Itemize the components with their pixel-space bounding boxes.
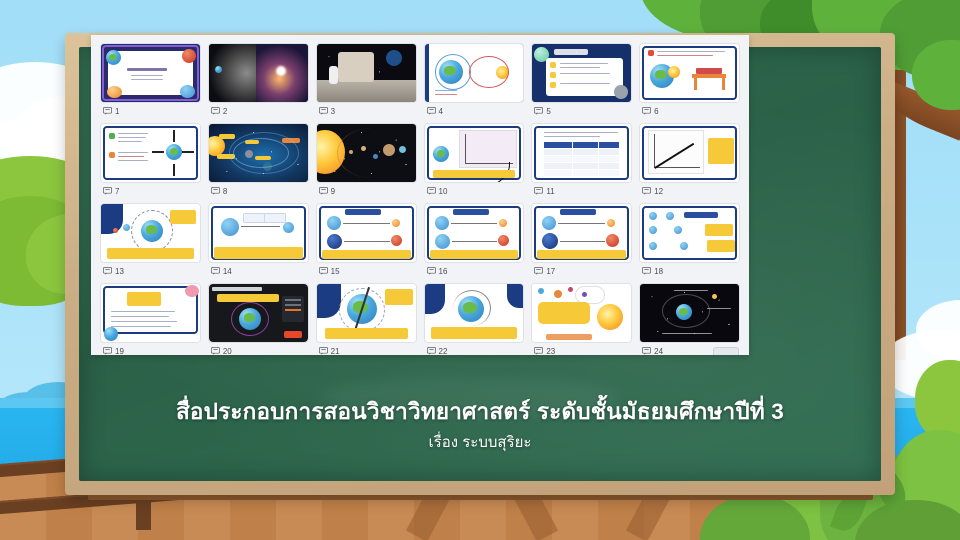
slide-thumbnail-panel[interactable]: 123456789101112131415161718192021222324 — [91, 35, 749, 355]
slide-number-row: 18 — [640, 262, 739, 280]
slide-thumbnail[interactable] — [532, 124, 631, 182]
slide-cell[interactable]: 6 — [636, 44, 743, 124]
slide-number-row: 20 — [209, 342, 308, 355]
slide-number-label: 5 — [546, 107, 550, 116]
slide-cell[interactable]: 11 — [528, 124, 635, 204]
slide-cell[interactable]: 14 — [205, 204, 312, 284]
slide-number-row: 5 — [532, 102, 631, 120]
slide-thumbnail[interactable] — [425, 204, 524, 262]
comment-note-icon — [103, 187, 112, 195]
slide-cell[interactable]: 20 — [205, 284, 312, 355]
slide-grid: 123456789101112131415161718192021222324 — [91, 35, 749, 355]
slide-cell[interactable]: 13 — [97, 204, 204, 284]
comment-note-icon — [427, 187, 436, 195]
slide-number-row: 8 — [209, 182, 308, 200]
slide-number-row: 13 — [101, 262, 200, 280]
comment-note-icon — [427, 107, 436, 115]
slide-number-row: 22 — [425, 342, 524, 355]
slide-cell[interactable]: 12 — [636, 124, 743, 204]
slide-thumbnail[interactable] — [209, 204, 308, 262]
slide-cell[interactable]: 24 — [636, 284, 743, 355]
slide-number-label: 21 — [331, 347, 340, 356]
comment-note-icon — [534, 267, 543, 275]
slide-number-row: 10 — [425, 182, 524, 200]
comment-note-icon — [211, 347, 220, 355]
slide-thumbnail[interactable] — [101, 204, 200, 262]
slide-cell[interactable]: 17 — [528, 204, 635, 284]
slide-number-label: 4 — [439, 107, 443, 116]
slide-cell[interactable]: 16 — [421, 204, 528, 284]
slide-number-label: 3 — [331, 107, 335, 116]
slide-cell[interactable]: 22 — [421, 284, 528, 355]
slide-number-row: 11 — [532, 182, 631, 200]
slide-number-label: 14 — [223, 267, 232, 276]
comment-note-icon — [534, 107, 543, 115]
slide-number-label: 19 — [115, 347, 124, 356]
comment-note-icon — [642, 347, 651, 355]
comment-note-icon — [103, 347, 112, 355]
slide-number-row: 6 — [640, 102, 739, 120]
slide-cell[interactable]: 9 — [313, 124, 420, 204]
slide-thumbnail[interactable] — [209, 44, 308, 102]
page-subtitle: เรื่อง ระบบสุริยะ — [65, 430, 895, 454]
slide-thumbnail[interactable] — [425, 124, 524, 182]
board-title-block: สื่อประกอบการสอนวิชาวิทยาศาสตร์ ระดับชั้… — [65, 398, 895, 454]
slide-number-label: 15 — [331, 267, 340, 276]
slide-cell[interactable]: 5 — [528, 44, 635, 124]
slide-number-label: 17 — [546, 267, 555, 276]
slide-thumbnail[interactable] — [640, 204, 739, 262]
slide-number-label: 23 — [546, 347, 555, 356]
screenshot-stage: 123456789101112131415161718192021222324 … — [0, 0, 960, 540]
slide-number-row: 3 — [317, 102, 416, 120]
slide-number-label: 13 — [115, 267, 124, 276]
slide-thumbnail[interactable] — [640, 284, 739, 342]
slide-number-label: 8 — [223, 187, 227, 196]
slide-number-label: 24 — [654, 347, 663, 356]
slide-cell[interactable]: 8 — [205, 124, 312, 204]
slide-number-row: 17 — [532, 262, 631, 280]
slide-number-label: 18 — [654, 267, 663, 276]
slide-number-row: 21 — [317, 342, 416, 355]
slide-number-label: 1 — [115, 107, 119, 116]
comment-note-icon — [427, 267, 436, 275]
slide-thumbnail[interactable] — [317, 284, 416, 342]
slide-number-row: 14 — [209, 262, 308, 280]
comment-note-icon — [534, 187, 543, 195]
comment-note-icon — [534, 347, 543, 355]
slide-cell[interactable]: 2 — [205, 44, 312, 124]
slide-number-row: 15 — [317, 262, 416, 280]
slide-cell[interactable]: 15 — [313, 204, 420, 284]
slide-number-row: 12 — [640, 182, 739, 200]
comment-note-icon — [642, 267, 651, 275]
slide-number-row: 2 — [209, 102, 308, 120]
slide-thumbnail[interactable] — [532, 44, 631, 102]
comment-note-icon — [319, 107, 328, 115]
slide-thumbnail[interactable] — [317, 204, 416, 262]
slide-number-label: 7 — [115, 187, 119, 196]
comment-note-icon — [103, 107, 112, 115]
comment-note-icon — [319, 267, 328, 275]
slide-thumbnail[interactable] — [640, 44, 739, 102]
slide-number-label: 11 — [546, 187, 554, 196]
comment-note-icon — [427, 347, 436, 355]
slide-number-label: 2 — [223, 107, 227, 116]
slide-thumbnail[interactable] — [640, 124, 739, 182]
slide-number-label: 9 — [331, 187, 335, 196]
comment-note-icon — [642, 107, 651, 115]
slide-number-row: 9 — [317, 182, 416, 200]
slide-number-row: 4 — [425, 102, 524, 120]
slide-number-row: 19 — [101, 342, 200, 355]
slide-number-row: 7 — [101, 182, 200, 200]
slide-number-row: 1 — [101, 102, 200, 120]
comment-note-icon — [319, 187, 328, 195]
comment-note-icon — [211, 267, 220, 275]
slide-number-label: 6 — [654, 107, 658, 116]
panel-scroll-control[interactable] — [713, 347, 739, 355]
slide-thumbnail[interactable] — [209, 124, 308, 182]
slide-thumbnail[interactable] — [425, 44, 524, 102]
slide-thumbnail[interactable] — [532, 284, 631, 342]
slide-number-label: 20 — [223, 347, 232, 356]
comment-note-icon — [211, 107, 220, 115]
slide-number-label: 22 — [439, 347, 448, 356]
slide-cell[interactable]: 21 — [313, 284, 420, 355]
slide-cell[interactable]: 3 — [313, 44, 420, 124]
slide-cell[interactable]: 18 — [636, 204, 743, 284]
comment-note-icon — [211, 187, 220, 195]
slide-number-label: 10 — [439, 187, 448, 196]
slide-cell[interactable]: 4 — [421, 44, 528, 124]
comment-note-icon — [319, 347, 328, 355]
slide-thumbnail[interactable] — [101, 284, 200, 342]
slide-cell[interactable]: 23 — [528, 284, 635, 355]
slide-thumbnail[interactable] — [532, 204, 631, 262]
slide-cell[interactable]: 10 — [421, 124, 528, 204]
slide-number-row: 16 — [425, 262, 524, 280]
comment-note-icon — [103, 267, 112, 275]
slide-thumbnail[interactable] — [101, 124, 200, 182]
slide-thumbnail[interactable] — [425, 284, 524, 342]
slide-thumbnail[interactable] — [101, 44, 200, 102]
slide-number-label: 16 — [439, 267, 448, 276]
slide-cell[interactable]: 1 — [97, 44, 204, 124]
page-title: สื่อประกอบการสอนวิชาวิทยาศาสตร์ ระดับชั้… — [65, 398, 895, 426]
slide-thumbnail[interactable] — [317, 44, 416, 102]
slide-number-row: 23 — [532, 342, 631, 355]
slide-thumbnail[interactable] — [209, 284, 308, 342]
slide-number-label: 12 — [654, 187, 663, 196]
comment-note-icon — [642, 187, 651, 195]
slide-cell[interactable]: 19 — [97, 284, 204, 355]
slide-cell[interactable]: 7 — [97, 124, 204, 204]
slide-thumbnail[interactable] — [317, 124, 416, 182]
